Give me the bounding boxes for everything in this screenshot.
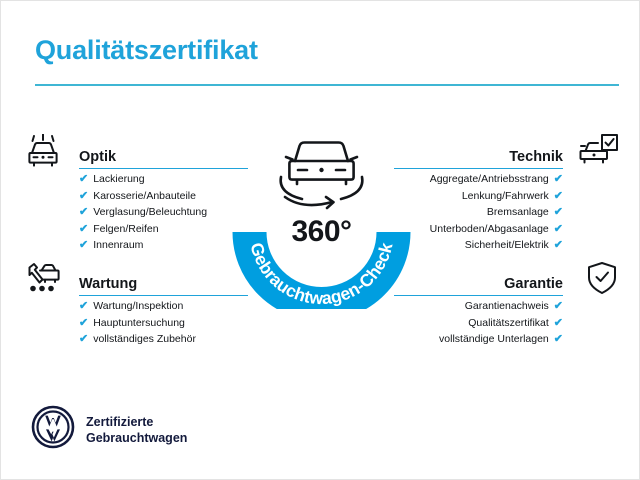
list-item-label: Innenraum: [93, 237, 143, 254]
section-optik-underline: [79, 168, 248, 170]
check-icon: ✔: [79, 204, 88, 221]
list-item: ✔Innenraum: [79, 237, 248, 254]
section-technik-title: Technik: [509, 149, 563, 165]
list-item-label: Unterboden/Abgasanlage: [430, 221, 549, 238]
check-icon: ✔: [79, 331, 88, 348]
list-item-label: Lackierung: [93, 171, 144, 188]
check-icon: ✔: [79, 171, 88, 188]
check-icon: ✔: [79, 298, 88, 315]
section-garantie-underline: [394, 295, 563, 297]
list-item: Bremsanlage✔: [394, 204, 563, 221]
car-checkbox-icon: [571, 131, 619, 171]
section-optik: Optik ✔Lackierung ✔Karosserie/Anbauteile…: [23, 131, 248, 254]
check-icon: ✔: [554, 315, 563, 332]
section-garantie: Garantie Garantienachweis✔ Qualitätszert…: [394, 258, 619, 348]
list-item-label: Verglasung/Beleuchtung: [93, 204, 207, 221]
list-item: ✔Wartung/Inspektion: [79, 298, 248, 315]
list-item-label: Bremsanlage: [487, 204, 549, 221]
list-item: Garantienachweis✔: [394, 298, 563, 315]
list-item-label: Felgen/Reifen: [93, 221, 158, 238]
check-icon: ✔: [554, 331, 563, 348]
check-icon: ✔: [554, 221, 563, 238]
section-technik-underline: [394, 168, 563, 170]
footer-line-1: Zertifizierte: [86, 415, 153, 429]
list-item-label: Qualitätszertifikat: [468, 315, 549, 332]
section-optik-title: Optik: [79, 149, 116, 165]
garantie-list: Garantienachweis✔ Qualitätszertifikat✔ v…: [394, 298, 619, 348]
qualitaetszertifikat-page: Qualitätszertifikat: [0, 0, 640, 480]
section-garantie-header: Garantie: [394, 258, 619, 298]
check-icon: ✔: [79, 315, 88, 332]
list-item-label: Hauptuntersuchung: [93, 315, 185, 332]
badge-degrees-label: 360°: [229, 215, 414, 249]
check-icon: ✔: [554, 204, 563, 221]
list-item: vollständige Unterlagen✔: [394, 331, 563, 348]
volkswagen-footer-text: Zertifizierte Gebrauchtwagen: [86, 414, 187, 446]
check-icon: ✔: [554, 298, 563, 315]
wartung-list: ✔Wartung/Inspektion ✔Hauptuntersuchung ✔…: [23, 298, 248, 348]
check-icon: ✔: [79, 221, 88, 238]
optik-list: ✔Lackierung ✔Karosserie/Anbauteile ✔Verg…: [23, 171, 248, 254]
section-wartung-title: Wartung: [79, 276, 137, 292]
list-item-label: Sicherheit/Elektrik: [465, 237, 549, 254]
check-icon: ✔: [554, 188, 563, 205]
section-technik-header: Technik: [394, 131, 619, 171]
list-item: ✔vollständiges Zubehör: [79, 331, 248, 348]
car-rotation-360-icon: [281, 143, 363, 209]
list-item-label: Lenkung/Fahrwerk: [462, 188, 549, 205]
gebrauchtwagen-check-badge: Gebrauchtwagen-Check 360°: [229, 119, 414, 309]
section-wartung-underline: [79, 295, 248, 297]
check-icon: ✔: [79, 237, 88, 254]
list-item-label: vollständige Unterlagen: [439, 331, 549, 348]
section-wartung-header: Wartung: [23, 258, 248, 298]
volkswagen-footer: Zertifizierte Gebrauchtwagen: [31, 405, 187, 454]
list-item: ✔Verglasung/Beleuchtung: [79, 204, 248, 221]
shield-check-icon: [571, 258, 619, 298]
list-item: ✔Lackierung: [79, 171, 248, 188]
list-item-label: Wartung/Inspektion: [93, 298, 183, 315]
wrench-car-service-icon: [23, 258, 71, 298]
page-title: Qualitätszertifikat: [35, 35, 258, 66]
check-icon: ✔: [79, 188, 88, 205]
section-wartung: Wartung ✔Wartung/Inspektion ✔Hauptunters…: [23, 258, 248, 348]
footer-line-2: Gebrauchtwagen: [86, 431, 187, 445]
volkswagen-logo: [31, 405, 75, 454]
header-divider: [35, 84, 619, 86]
list-item: Sicherheit/Elektrik✔: [394, 237, 563, 254]
list-item: Qualitätszertifikat✔: [394, 315, 563, 332]
section-optik-header: Optik: [23, 131, 248, 171]
list-item: Aggregate/Antriebsstrang✔: [394, 171, 563, 188]
list-item: ✔Karosserie/Anbauteile: [79, 188, 248, 205]
list-item: ✔Hauptuntersuchung: [79, 315, 248, 332]
list-item: ✔Felgen/Reifen: [79, 221, 248, 238]
check-icon: ✔: [554, 237, 563, 254]
technik-list: Aggregate/Antriebsstrang✔ Lenkung/Fahrwe…: [394, 171, 619, 254]
section-garantie-title: Garantie: [504, 276, 563, 292]
list-item-label: vollständiges Zubehör: [93, 331, 196, 348]
check-icon: ✔: [554, 171, 563, 188]
list-item-label: Garantienachweis: [465, 298, 549, 315]
list-item: Unterboden/Abgasanlage✔: [394, 221, 563, 238]
section-technik: Technik Aggregate/Antriebsstrang✔ Lenkun…: [394, 131, 619, 254]
list-item-label: Aggregate/Antriebsstrang: [430, 171, 549, 188]
list-item: Lenkung/Fahrwerk✔: [394, 188, 563, 205]
car-front-lights-icon: [23, 131, 71, 171]
list-item-label: Karosserie/Anbauteile: [93, 188, 196, 205]
